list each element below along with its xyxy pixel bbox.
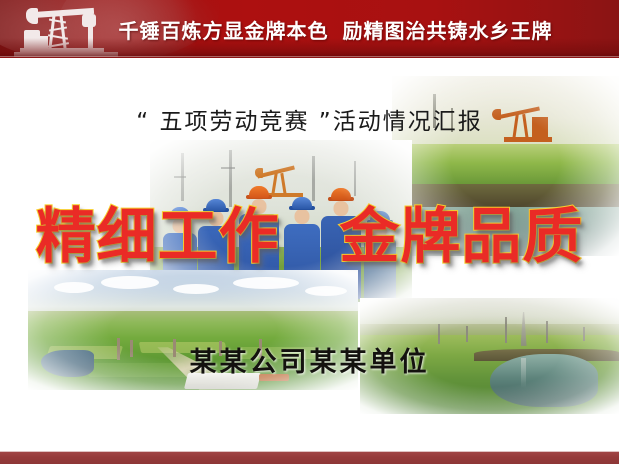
footer-bar: [0, 452, 619, 464]
slide-headline: 精细工作 金牌品质: [0, 188, 619, 275]
headline-part-1: 精细工作: [36, 202, 280, 272]
slide-body: “ 五项劳动竞赛 ”活动情况汇报 精细工作 金牌品质 某某公司某某单位: [0, 58, 619, 452]
title-banner: 千锤百炼方显金牌本色 励精图治共铸水乡王牌: [0, 0, 619, 58]
banner-shading: [0, 38, 619, 58]
headline-part-2: 金牌品质: [339, 202, 583, 272]
organization-name: 某某公司某某单位: [0, 340, 619, 379]
slide-subtitle: “ 五项劳动竞赛 ”活动情况汇报: [0, 102, 619, 136]
presentation-slide: 千锤百炼方显金牌本色 励精图治共铸水乡王牌: [0, 0, 619, 464]
